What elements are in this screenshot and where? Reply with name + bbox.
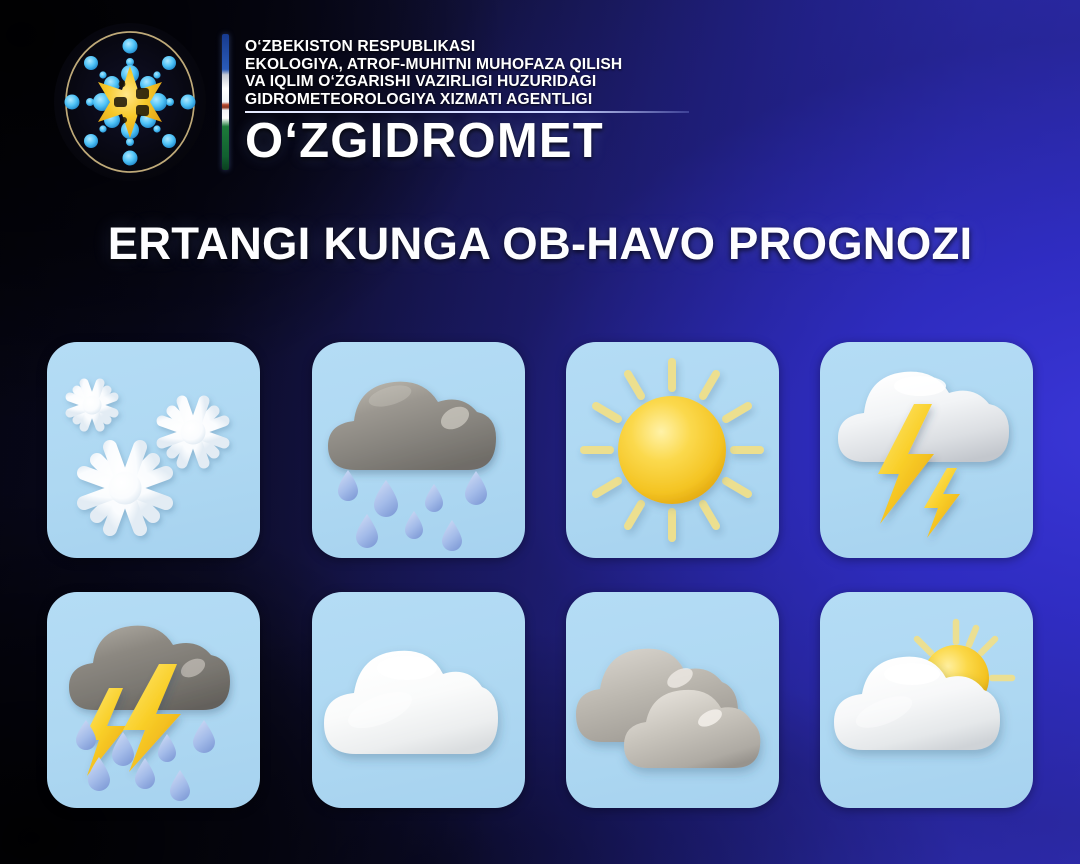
weather-tile-thunderstorm-rain: [47, 592, 260, 808]
org-line-3: VA IQLIM O‘ZGARISHI VAZIRLIGI HUZURIDAGI: [245, 73, 692, 91]
brand-wordmark: O‘ZGIDROMET: [245, 115, 692, 167]
ozgidromet-emblem-icon: [52, 22, 208, 182]
weather-tile-sunny: [566, 342, 779, 558]
weather-tile-thunderstorm: [820, 342, 1033, 558]
sun-icon: [566, 342, 779, 558]
weather-tile-snow: [47, 342, 260, 558]
white-cloud-icon: [312, 592, 525, 808]
org-line-2: EKOLOGIYA, ATROF-MUHITNI MUHOFAZA QILISH: [245, 56, 692, 74]
org-line-1: O‘ZBEKISTON RESPUBLIKASI: [245, 38, 692, 56]
rain-cloud-icon: [312, 342, 525, 558]
thunderstorm-icon: [820, 342, 1033, 558]
header: O‘ZBEKISTON RESPUBLIKASI EKOLOGIYA, ATRO…: [52, 22, 692, 184]
weather-icon-grid: [47, 342, 1033, 818]
sun-behind-cloud-icon: [820, 592, 1033, 808]
weather-tile-partly-cloudy: [820, 592, 1033, 808]
weather-tile-white-cloud: [312, 592, 525, 808]
gray-clouds-icon: [566, 592, 779, 808]
thunderstorm-rain-icon: [47, 592, 260, 808]
org-line-4: GIDROMETEOROLOGIYA XIZMATI AGENTLIGI: [245, 91, 692, 109]
weather-tile-gray-clouds: [566, 592, 779, 808]
uzbekistan-flag-bar: [222, 34, 229, 170]
snow-icon: [47, 342, 260, 558]
organization-text-block: O‘ZBEKISTON RESPUBLIKASI EKOLOGIYA, ATRO…: [245, 38, 692, 167]
page-title: ERTANGI KUNGA OB-HAVO PROGNOZI: [0, 219, 1080, 269]
weather-tile-rain: [312, 342, 525, 558]
